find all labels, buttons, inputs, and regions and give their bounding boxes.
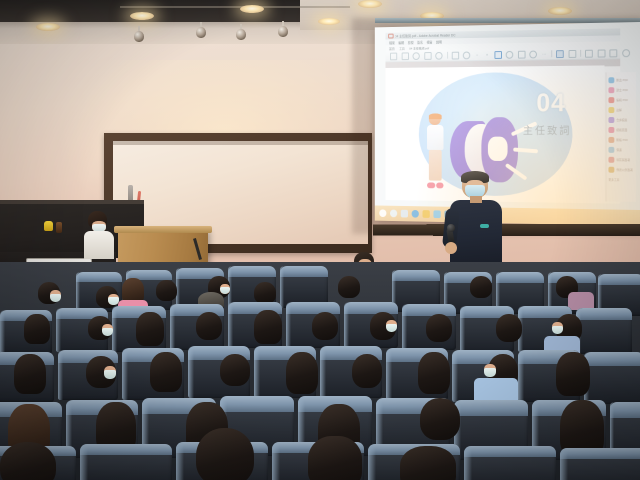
audience-head — [426, 314, 452, 342]
send-for-signature-icon[interactable] — [608, 167, 614, 173]
presenter-shirt-logo — [480, 224, 489, 228]
audience-head — [254, 282, 276, 304]
track-spotlight-icon-2 — [196, 22, 206, 38]
tool-row[interactable]: 組織頁面 — [606, 125, 636, 135]
audience-head — [196, 428, 254, 480]
audience-head — [418, 352, 450, 394]
audience-head — [420, 398, 460, 440]
comment-icon[interactable] — [556, 50, 564, 58]
tool-label: 填寫與簽署 — [616, 158, 630, 162]
toolbar-separator-1 — [447, 52, 448, 59]
menu-item-edit[interactable]: 編輯 — [398, 40, 404, 45]
menu-item-window[interactable]: 視窗 — [427, 39, 433, 44]
audience-head — [352, 354, 382, 388]
save-icon[interactable] — [390, 52, 397, 60]
highlight-icon[interactable] — [494, 51, 501, 59]
page-thumb-icon[interactable]: ⋯ — [541, 51, 547, 57]
organize-pages-icon[interactable] — [608, 127, 614, 133]
menu-item-help[interactable]: 說明 — [436, 39, 442, 44]
note-icon[interactable] — [585, 49, 593, 57]
compress-pdf-icon[interactable] — [608, 137, 614, 143]
print-icon[interactable] — [401, 52, 408, 60]
app-logo-icon — [388, 33, 393, 38]
start-button[interactable] — [379, 209, 386, 217]
tool-row[interactable]: 傳送以供簽署 — [606, 165, 636, 175]
side-counter-top — [0, 200, 144, 204]
comment-tool-icon[interactable] — [608, 107, 614, 113]
tool-label: 組織頁面 — [616, 128, 627, 132]
seat — [576, 308, 632, 354]
tool-label: 壓縮 PDF — [616, 138, 628, 142]
page-view-icon[interactable] — [424, 52, 431, 60]
audience-head — [220, 354, 250, 386]
search-icon[interactable] — [435, 51, 442, 59]
tool-row[interactable]: 編輯 PDF — [606, 95, 636, 105]
tab-home[interactable]: 首頁 — [389, 46, 395, 51]
downlight-icon-2 — [130, 12, 154, 20]
tool-label: 編輯 PDF — [616, 98, 628, 102]
downlight-icon-5 — [358, 0, 382, 8]
shapes-icon[interactable] — [518, 50, 526, 58]
edit-pdf-icon[interactable] — [608, 97, 614, 103]
podium-host-body — [84, 231, 114, 259]
audience-head — [496, 314, 522, 342]
brown-bottle-icon — [56, 222, 62, 233]
pointer-icon[interactable] — [451, 51, 458, 59]
browser-icon[interactable] — [412, 210, 419, 218]
downlight-icon-1 — [36, 23, 60, 31]
audience-head — [14, 354, 46, 394]
tool-row[interactable]: 填寫與簽署 — [606, 155, 636, 165]
zoom-out-icon[interactable]: − — [474, 52, 480, 58]
audience-head — [156, 280, 177, 301]
downlight-icon-4 — [318, 18, 340, 25]
audience-head — [338, 276, 360, 298]
more-tools-label: 更多工具 — [608, 178, 619, 182]
illustration-shape-white-inner — [487, 137, 507, 161]
task-view-icon[interactable] — [401, 210, 408, 218]
tab-tools[interactable]: 工具 — [399, 45, 405, 50]
tab-document[interactable]: 04 主任致詞.pdf — [409, 45, 429, 50]
zoom-in-icon[interactable]: + — [484, 52, 490, 58]
menu-item-view[interactable]: 檢視 — [408, 39, 414, 44]
text-annotate-icon[interactable] — [610, 49, 618, 57]
ceiling-dark-panel — [0, 0, 320, 22]
stamp-icon[interactable] — [506, 50, 514, 58]
fill-and-sign-icon[interactable] — [608, 157, 614, 163]
create-pdf-icon[interactable] — [608, 87, 614, 93]
audience-head — [308, 436, 362, 480]
share-icon[interactable] — [622, 49, 630, 57]
yellow-object-icon — [44, 221, 53, 231]
track-spotlight-icon-4 — [278, 21, 288, 37]
tool-label: 註解 — [616, 108, 622, 112]
tool-label: 匯出 PDF — [616, 78, 628, 82]
illustration-person-shoe-left — [427, 182, 435, 188]
tool-row[interactable]: 匯出 PDF — [606, 75, 636, 85]
downlight-icon-3 — [240, 5, 264, 13]
audience-head — [470, 276, 492, 298]
podium-top-surface — [114, 226, 212, 233]
audience-head — [150, 352, 182, 392]
export-pdf-icon[interactable] — [608, 77, 614, 83]
protect-icon[interactable] — [608, 147, 614, 153]
email-icon[interactable] — [413, 52, 420, 60]
tool-label: 保護 — [616, 148, 622, 152]
seat — [464, 446, 556, 480]
menu-item-sign[interactable]: 簽名 — [417, 39, 423, 44]
toolbar-separator-3 — [580, 50, 581, 57]
toolbar-separator-2 — [551, 50, 552, 57]
audience-mask-icon — [104, 370, 116, 379]
whiteboard-top-shadow — [113, 141, 368, 145]
audience-head — [312, 312, 338, 340]
presenter-hand — [445, 242, 457, 254]
lighting-track — [120, 6, 350, 8]
audience-head — [196, 312, 222, 340]
textbox-icon[interactable] — [568, 49, 576, 57]
seat — [560, 448, 640, 480]
tool-label: 合併檔案 — [616, 118, 627, 122]
tool-row[interactable]: 建立 PDF — [606, 85, 636, 95]
tool-row[interactable]: 合併檔案 — [606, 115, 636, 125]
tool-row[interactable]: 保護 — [606, 145, 636, 155]
tool-label: 傳送以供簽署 — [616, 168, 633, 172]
audience-head — [286, 352, 318, 394]
folder-icon[interactable] — [422, 210, 429, 218]
audience-mask-icon — [484, 368, 496, 377]
audience-head — [0, 442, 56, 480]
illustration-person-hair — [429, 114, 442, 119]
illustration-person-shirt — [427, 125, 444, 150]
track-spotlight-icon-3 — [236, 24, 246, 40]
microphone-head-icon — [447, 224, 455, 232]
draw-icon[interactable] — [597, 49, 605, 57]
track-spotlight-icon-1 — [134, 26, 144, 42]
seat — [584, 352, 640, 404]
fill-sign-icon[interactable] — [529, 50, 537, 58]
tool-label: 建立 PDF — [616, 88, 628, 92]
menu-item-file[interactable]: 檔案 — [389, 40, 395, 45]
more-tools-row[interactable]: 更多工具 — [606, 175, 636, 185]
seat — [80, 444, 172, 480]
audience-head — [136, 312, 164, 346]
slide-subtitle: 主任致詞 — [523, 123, 572, 138]
tool-row[interactable]: 註解 — [606, 105, 636, 115]
tools-side-panel[interactable]: 匯出 PDF 建立 PDF 編輯 PDF 註解 合併檔案 組織頁面 — [605, 72, 636, 202]
audience-head — [24, 314, 50, 344]
downlight-icon-7 — [548, 7, 572, 15]
presenter-neck — [470, 196, 482, 203]
select-icon[interactable] — [463, 51, 470, 59]
tool-row[interactable]: 壓縮 PDF — [606, 135, 636, 145]
combine-files-icon[interactable] — [608, 117, 614, 123]
audience-shirt — [474, 378, 518, 402]
slide-number: 04 — [536, 89, 566, 115]
auditorium-photo: 04 主任致詞.pdf - Adobe Acrobat Reader DC 檔案… — [0, 0, 640, 480]
audience-head — [254, 310, 282, 344]
audience-head — [556, 352, 590, 396]
search-icon[interactable] — [390, 210, 397, 218]
audience-head — [400, 446, 456, 480]
